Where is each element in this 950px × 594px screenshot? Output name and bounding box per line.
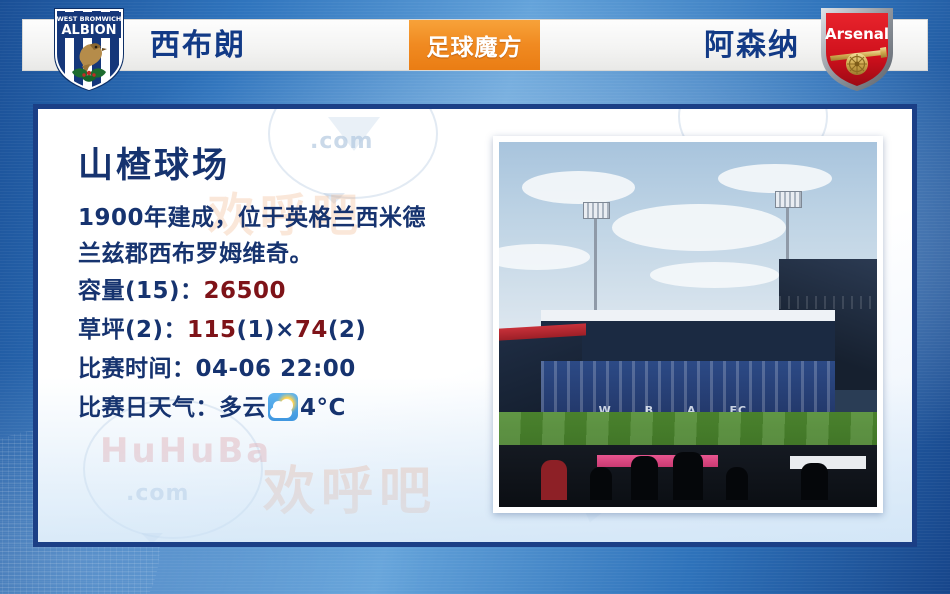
description-line-2: 兰兹郡西布罗姆维奇。 [78,236,508,272]
pitch-row: 草坪(2)：115(1)×74(2) [78,311,508,350]
match-weather-row: 比赛日天气：多云4°C [78,389,508,428]
pitch-length-rank: (1) [237,317,276,343]
spectator-silhouette [801,463,827,500]
match-time-row: 比赛时间：04-06 22:00 [78,350,508,389]
site-logo: 足球魔方 [409,20,540,70]
content-panel: .com HuHuBa .com 欢呼吧 欢呼吧 山楂球场 1900年建成，位于… [33,104,917,547]
spectator-silhouette [673,452,703,499]
match-header: WEST BROMWICH ALBION 西布朗 足球魔方 阿森纳 [0,0,950,95]
stadium-description: 1900年建成，位于英格兰西米德 兰兹郡西布罗姆维奇。 [78,200,508,272]
spectator-silhouette [631,456,657,500]
match-time-value: 04-06 22:00 [196,356,356,382]
svg-text:ALBION: ALBION [61,23,116,38]
cloud-shape [650,262,779,288]
spectator-silhouette [541,460,567,500]
capacity-label: 容量(15)： [78,278,204,304]
pitch-width-value: 74 [295,317,328,343]
pitch-label: 草坪(2)： [78,317,187,343]
pitch-width-rank: (2) [328,317,367,343]
partly-cloudy-icon [268,393,298,421]
weather-label: 比赛日天气： [78,395,219,421]
spectator-silhouette [590,467,613,500]
capacity-row: 容量(15)：26500 [78,272,508,311]
spectator-silhouette [726,467,749,500]
west-bromwich-albion-crest: WEST BROMWICH ALBION [46,4,132,92]
svg-text:Arsenal: Arsenal [825,25,889,43]
description-line-1: 1900年建成，位于英格兰西米德 [78,200,508,236]
pitch-multiply-sign: × [275,317,295,343]
arsenal-crest: Arsenal [814,4,900,92]
floodlight-left [594,215,597,317]
match-time-label: 比赛时间： [78,356,196,382]
watermark-domain-bottom: .com [126,481,189,506]
weather-value: 多云 [219,395,266,421]
watermark-brand: HuHuBa [100,431,272,471]
cloud-shape [718,164,831,193]
stadium-photo-frame: W B A FC [493,136,883,513]
pitch-length-value: 115 [187,317,237,343]
temperature-value: 4°C [300,395,346,421]
capacity-value: 26500 [204,278,287,304]
page-title: 山楂球场 [78,137,508,188]
stadium-photo: W B A FC [499,142,877,507]
stadium-info: 山楂球场 1900年建成，位于英格兰西米德 兰兹郡西布罗姆维奇。 容量(15)：… [78,137,508,428]
away-team-name: 阿森纳 [704,24,800,68]
svg-text:WEST BROMWICH: WEST BROMWICH [57,15,122,23]
home-team-name: 西布朗 [150,24,246,68]
site-logo-text: 足球魔方 [427,28,523,62]
watermark-brand-cn-bottom: 欢呼吧 [263,449,437,524]
photo-advert-band-white [790,456,866,469]
cloud-shape [522,171,635,204]
content-panel-inner: .com HuHuBa .com 欢呼吧 欢呼吧 山楂球场 1900年建成，位于… [38,109,912,542]
